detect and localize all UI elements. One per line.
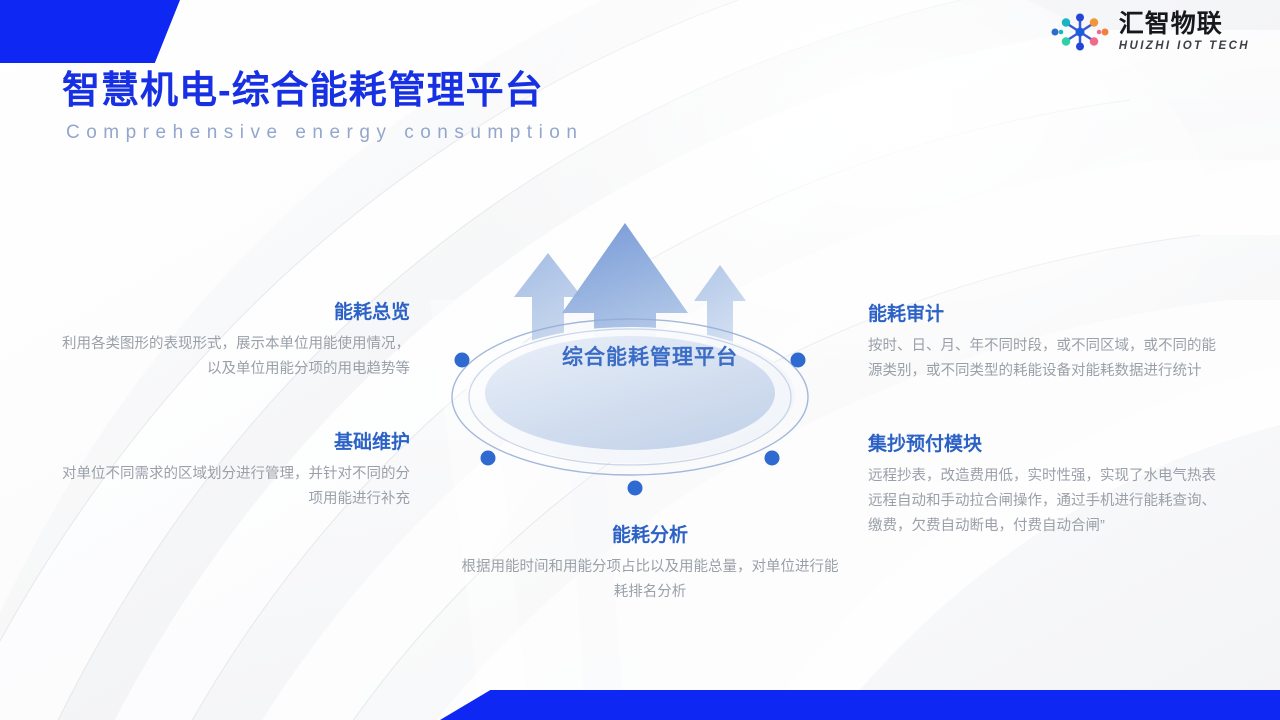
- page-title: 智慧机电-综合能耗管理平台: [62, 70, 583, 114]
- feature-body-audit: 按时、日、月、年不同时段，或不同区域，或不同的能源类别，或不同类型的耗能设备对能…: [868, 334, 1228, 384]
- feature-block-overview: 能耗总览 利用各类图形的表现形式，展示本单位用能使用情况，以及单位用能分项的用电…: [60, 302, 410, 382]
- feature-body-overview: 利用各类图形的表现形式，展示本单位用能使用情况，以及单位用能分项的用电趋势等: [60, 332, 410, 382]
- feature-title-overview: 能耗总览: [60, 302, 410, 325]
- logo-name-cn: 汇智物联: [1119, 12, 1223, 37]
- logo-text-block: 汇智物联 HUIZHI IOT TECH: [1119, 12, 1250, 53]
- logo-name-en: HUIZHI IOT TECH: [1119, 41, 1250, 53]
- page-subtitle: Comprehensive energy consumption: [66, 122, 583, 144]
- corner-decoration-bottom-right: [440, 690, 1280, 720]
- feature-title-audit: 能耗审计: [868, 304, 1228, 327]
- page-title-block: 智慧机电-综合能耗管理平台 Comprehensive energy consu…: [62, 70, 583, 144]
- corner-decoration-top-left: [0, 0, 180, 63]
- feature-body-prepay: 远程抄表，改造费用低，实时性强，实现了水电气热表远程自动和手动拉合闸操作，通过手…: [868, 464, 1228, 539]
- feature-block-analysis: 能耗分析 根据用能时间和用能分项占比以及用能总量，对单位进行能耗排名分析: [455, 525, 845, 605]
- orbit-node: [628, 481, 643, 496]
- orbit-node: [481, 451, 496, 466]
- feature-body-analysis: 根据用能时间和用能分项占比以及用能总量，对单位进行能耗排名分析: [455, 555, 845, 605]
- feature-block-maintenance: 基础维护 对单位不同需求的区域划分进行管理，并针对不同的分项用能进行补充: [60, 432, 410, 512]
- feature-title-maintenance: 基础维护: [60, 432, 410, 455]
- feature-title-analysis: 能耗分析: [455, 525, 845, 548]
- company-logo: 汇智物联 HUIZHI IOT TECH: [1049, 12, 1250, 53]
- feature-block-audit: 能耗审计 按时、日、月、年不同时段，或不同区域，或不同的能源类别，或不同类型的耗…: [868, 304, 1228, 384]
- center-platform-label: 综合能耗管理平台: [430, 341, 870, 371]
- orbit-node: [765, 451, 780, 466]
- molecule-network-icon: [1049, 12, 1111, 52]
- feature-body-maintenance: 对单位不同需求的区域划分进行管理，并针对不同的分项用能进行补充: [60, 462, 410, 512]
- feature-title-prepay: 集抄预付模块: [868, 434, 1228, 457]
- feature-block-prepay: 集抄预付模块 远程抄表，改造费用低，实时性强，实现了水电气热表远程自动和手动拉合…: [868, 434, 1228, 539]
- slide-canvas: 智慧机电-综合能耗管理平台 Comprehensive energy consu…: [0, 0, 1280, 720]
